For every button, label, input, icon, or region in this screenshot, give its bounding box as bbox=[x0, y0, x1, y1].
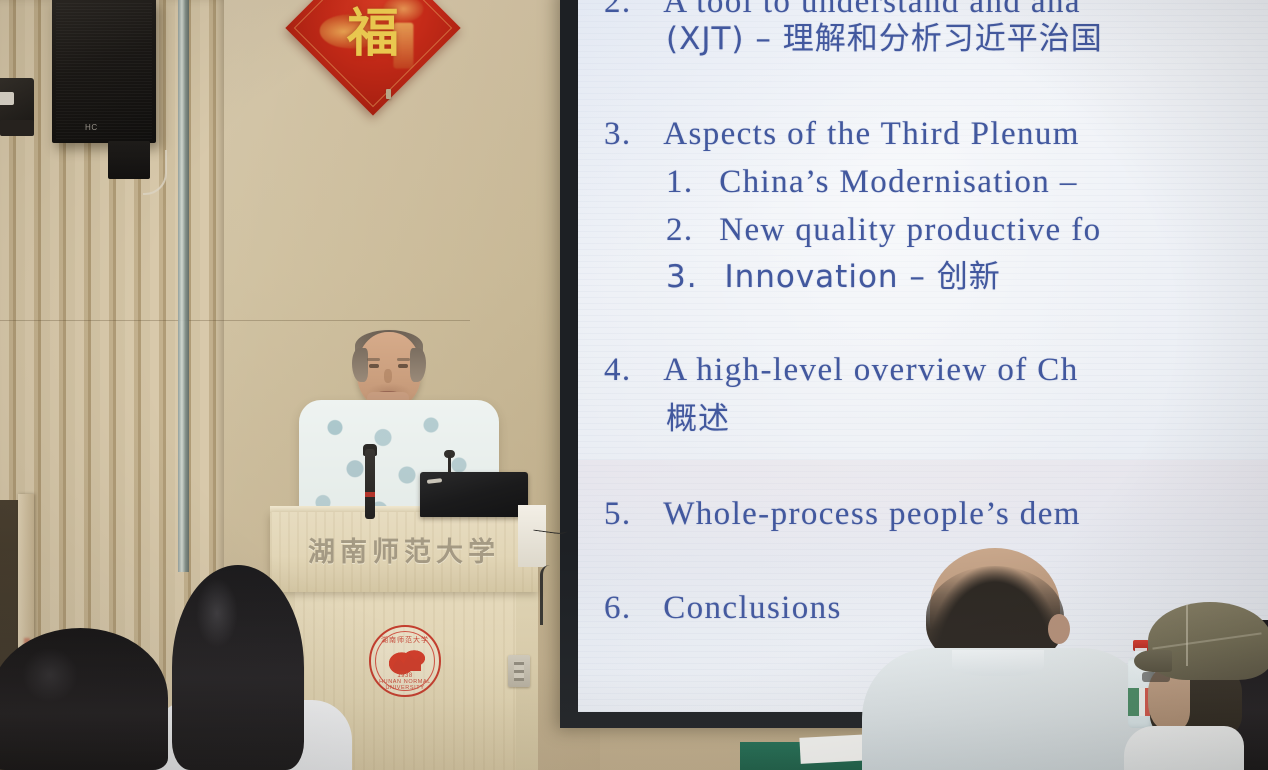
slide-line-5-text: Whole-process people’s dem bbox=[641, 496, 1081, 532]
floor-cable bbox=[540, 565, 556, 625]
slide-line-3c-text: Innovation – 创新 bbox=[708, 259, 1000, 295]
attendee-left-hair bbox=[172, 565, 304, 770]
slide-line-3c: 3. Innovation – 创新 bbox=[666, 262, 1001, 293]
slide-line-3b: 2. New quality productive fo bbox=[666, 214, 1102, 247]
slide-line-3-text: Aspects of the Third Plenum bbox=[641, 116, 1080, 152]
wall-metal-trim bbox=[178, 0, 189, 572]
slide-line-5: 5. Whole-process people’s dem bbox=[604, 498, 1081, 531]
slide-line-3b-text: New quality productive fo bbox=[703, 212, 1101, 248]
presenter-eye-right bbox=[398, 364, 408, 368]
presenter-hair-left bbox=[352, 348, 368, 382]
slide-line-2-number: 2. bbox=[604, 0, 632, 20]
slide-line-2: 2. A tool to understand and ana bbox=[604, 0, 1081, 19]
slide-line-5-number: 5. bbox=[604, 496, 632, 532]
slide-line-3a-number: 1. bbox=[666, 164, 694, 200]
slide-line-3-number: 3. bbox=[604, 116, 632, 152]
microphone-body bbox=[365, 449, 375, 519]
slide-line-3: 3. Aspects of the Third Plenum bbox=[604, 118, 1080, 151]
presenter-eyebrow-right bbox=[397, 358, 410, 361]
attendee-cap-brim bbox=[1134, 650, 1172, 672]
laptop[interactable] bbox=[420, 472, 528, 517]
slide-line-4: 4. A high-level overview of Ch bbox=[604, 354, 1079, 387]
attendee-left-near-hair-highlight bbox=[22, 648, 78, 702]
speaker-brand-label: HC bbox=[85, 123, 98, 132]
slide-line-6: 6. Conclusions bbox=[604, 592, 842, 625]
slide-line-3b-number: 2. bbox=[666, 212, 694, 248]
slide-line-2b: (XJT) – 理解和分析习近平治国 bbox=[666, 24, 1103, 55]
presenter-eye-left bbox=[369, 364, 379, 368]
slide-line-3a-text: China’s Modernisation – bbox=[703, 164, 1078, 200]
attendee-left-hair-highlight bbox=[196, 578, 238, 648]
slide-line-4b: 概述 bbox=[666, 404, 730, 435]
slide-line-2-text: A tool to understand and ana bbox=[641, 0, 1081, 20]
wall-socket bbox=[508, 655, 530, 687]
attendee-cap-shirt bbox=[1124, 726, 1244, 770]
attendee-balding-ear bbox=[1048, 614, 1070, 644]
slide-line-4-text: A high-level overview of Ch bbox=[641, 352, 1078, 388]
wall-equipment-white-panel bbox=[0, 92, 14, 105]
slide-line-3c-number: 3. bbox=[666, 259, 698, 295]
attendee-cap-seam bbox=[1186, 604, 1188, 666]
slide-line-4-number: 4. bbox=[604, 352, 632, 388]
presenter-eyebrow-left bbox=[367, 358, 380, 361]
slide-line-4b-text: 概述 bbox=[666, 401, 730, 437]
projection-screen-surface: 2. A tool to understand and ana (XJT) – … bbox=[578, 0, 1268, 712]
attendee-balding-collar bbox=[952, 650, 1044, 676]
attendee-left-near-hair bbox=[0, 628, 168, 770]
university-logo: 湖南师范大学 1938 HUNAN NORMAL UNIVERSITY bbox=[369, 625, 441, 697]
wall-equipment-box-secondary bbox=[0, 120, 34, 136]
microphone-indicator-band bbox=[365, 492, 375, 497]
fu-character-glyph: 福 bbox=[311, 0, 435, 90]
wall-panel-white bbox=[518, 505, 546, 567]
slide-line-6-number: 6. bbox=[604, 590, 632, 626]
podium-university-name: 湖南师范大学 bbox=[270, 530, 538, 569]
speaker-grille bbox=[56, 2, 152, 139]
slide-line-6-text: Conclusions bbox=[641, 590, 842, 626]
university-logo-emblem bbox=[389, 643, 425, 677]
university-logo-english-text: HUNAN NORMAL UNIVERSITY bbox=[371, 679, 439, 691]
wall-speaker: HC bbox=[52, 0, 156, 143]
presenter-nose bbox=[384, 369, 392, 383]
slide-line-3a: 1. China’s Modernisation – bbox=[666, 166, 1078, 199]
wall-hook bbox=[386, 89, 391, 99]
lecture-hall-scene: HC 福 2. A tool to understand and ana (XJ… bbox=[0, 0, 1268, 770]
slide-line-2b-text: (XJT) – 理解和分析习近平治国 bbox=[666, 21, 1103, 57]
laptop-logo bbox=[427, 478, 442, 484]
wall-seam-line bbox=[0, 320, 470, 321]
